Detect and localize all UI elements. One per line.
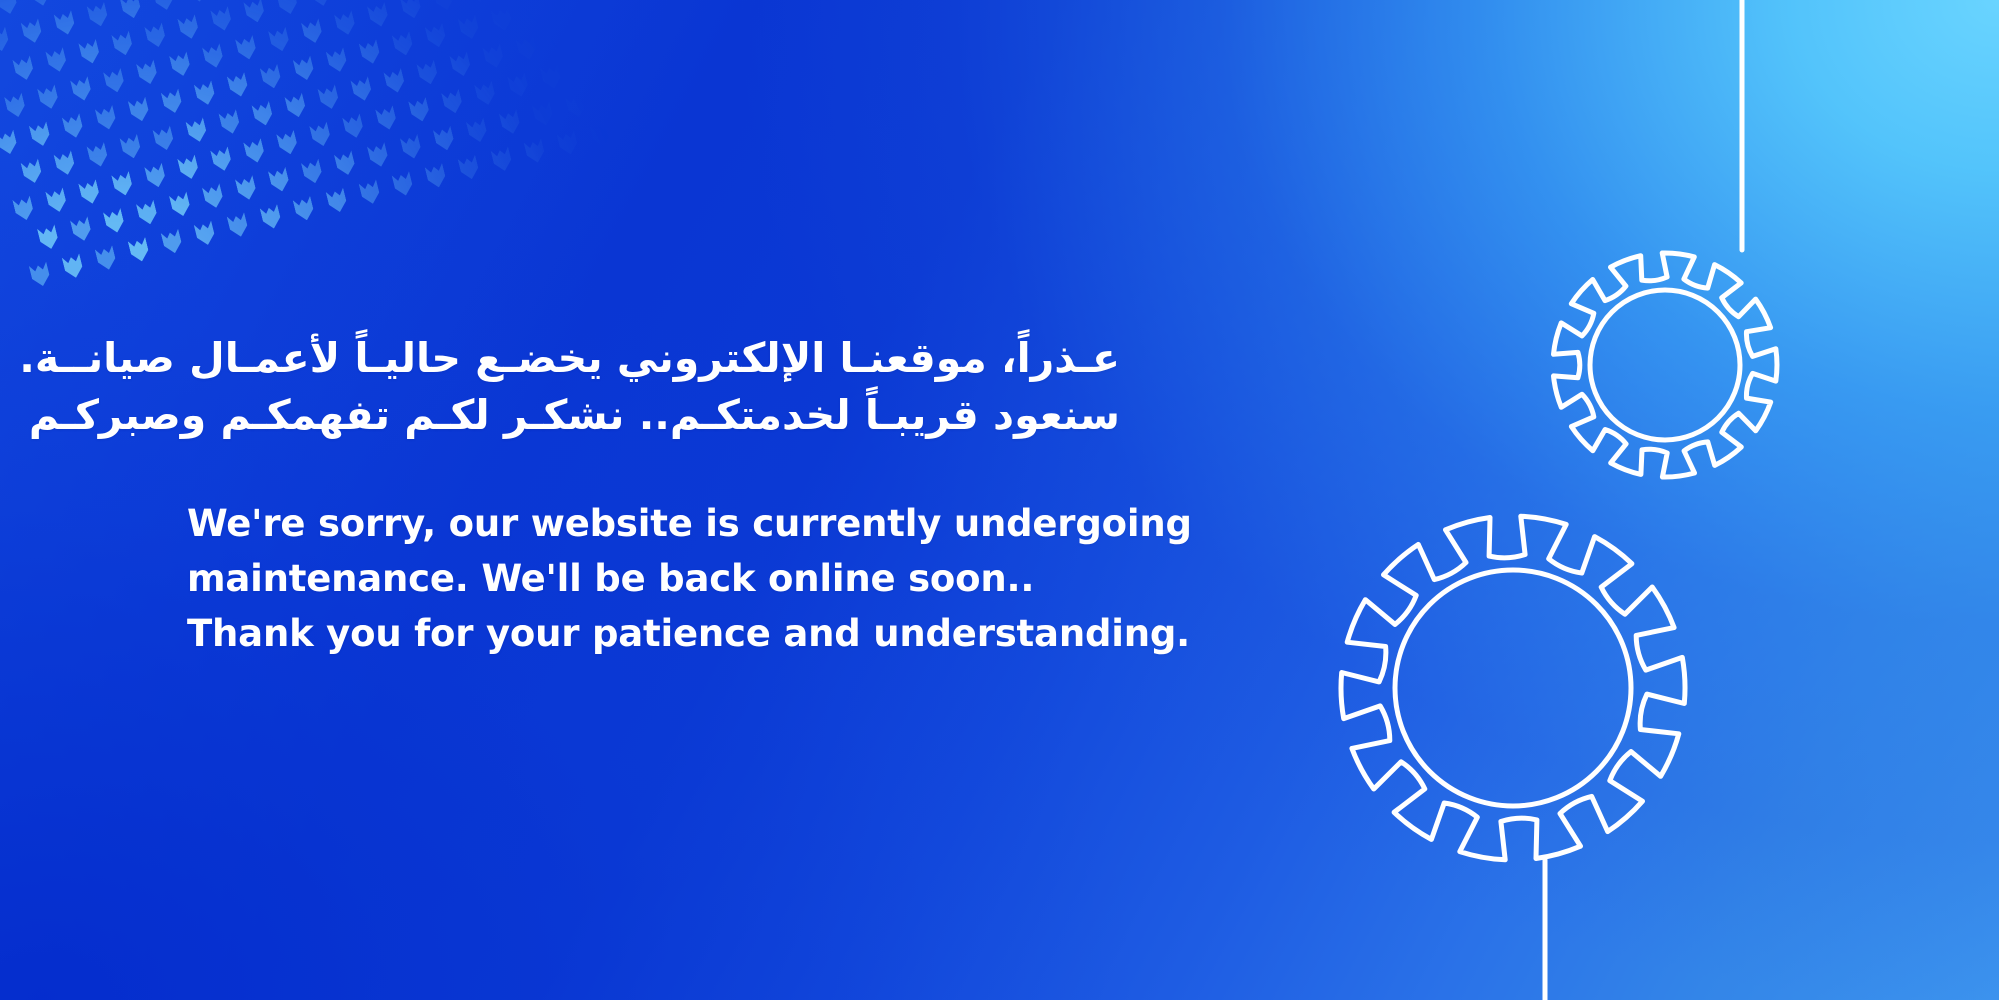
english-message-line-2: maintenance. We'll be back online soon.. [187, 551, 1187, 606]
english-message-line-1: We're sorry, our website is currently un… [187, 496, 1187, 551]
message-content: عـذراً، موقعنـا الإلكتروني يخضـع حاليـاً… [187, 330, 1187, 661]
maintenance-page: عـذراً، موقعنـا الإلكتروني يخضـع حاليـاً… [0, 0, 1999, 1000]
arabic-message-line-1: عـذراً، موقعنـا الإلكتروني يخضـع حاليـاً… [187, 330, 1120, 387]
arabic-message-line-2: سنعود قريبـاً لخدمتكـم.. نشكـر لكـم تفهم… [187, 387, 1120, 444]
arabic-message: عـذراً، موقعنـا الإلكتروني يخضـع حاليـاً… [187, 330, 1120, 444]
english-message-line-3: Thank you for your patience and understa… [187, 606, 1187, 661]
english-message: We're sorry, our website is currently un… [187, 496, 1187, 661]
